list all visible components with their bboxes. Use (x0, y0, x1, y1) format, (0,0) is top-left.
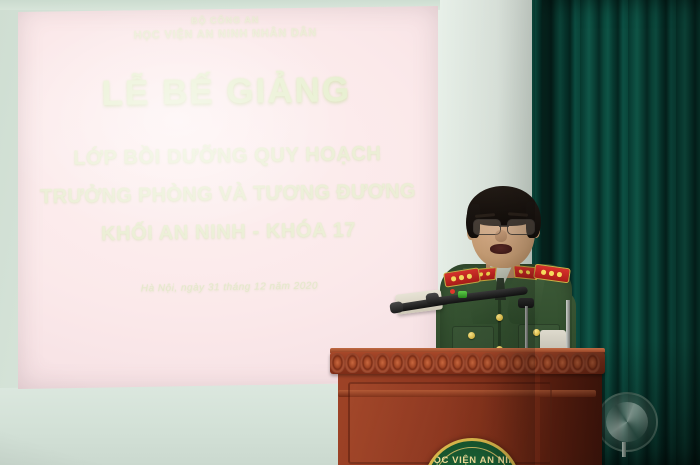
mic-indicator-red (450, 289, 455, 294)
mouth-open-speaking (490, 244, 512, 254)
slide-date-line: Hà Nội, ngày 31 tháng 12 năm 2020 (19, 279, 439, 297)
presentation-slide: BỘ CÔNG AN HỌC VIỆN AN NINH NHÂN DÂN LỄ … (15, 3, 441, 393)
slide-subtitle-2: TRƯỞNG PHÒNG VÀ TƯƠNG ĐƯƠNG (18, 180, 438, 210)
fan-pole (622, 442, 626, 457)
fan-blades (606, 402, 648, 442)
podium-carving (330, 353, 605, 373)
speaking-podium: HỌC VIỆN AN NINH NHÂN DÂN ★ (330, 352, 605, 465)
lens-right (507, 219, 535, 235)
seal-label: HỌC VIỆN AN NINH NHÂN DÂN (426, 455, 518, 465)
nose (495, 230, 507, 242)
mic-indicator-green (458, 291, 467, 298)
uniform-button-1 (496, 314, 503, 321)
slide-org-line-2: HỌC VIỆN AN NINH NHÂN DÂN (15, 25, 435, 44)
slide-subtitle-3: KHỐI AN NINH - KHÓA 17 (18, 218, 438, 248)
mic-right-head (425, 292, 439, 305)
photo-scene: BỘ CÔNG AN HỌC VIỆN AN NINH NHÂN DÂN LỄ … (0, 0, 700, 465)
slide-subtitle-1: LỚP BỒI DƯỠNG QUY HOẠCH (17, 142, 437, 172)
fan-cage (596, 392, 658, 452)
slide-title: LỄ BẾ GIẢNG (16, 69, 437, 116)
projection-screen: BỘ CÔNG AN HỌC VIỆN AN NINH NHÂN DÂN LỄ … (18, 6, 438, 389)
glasses-bridge (499, 225, 509, 227)
